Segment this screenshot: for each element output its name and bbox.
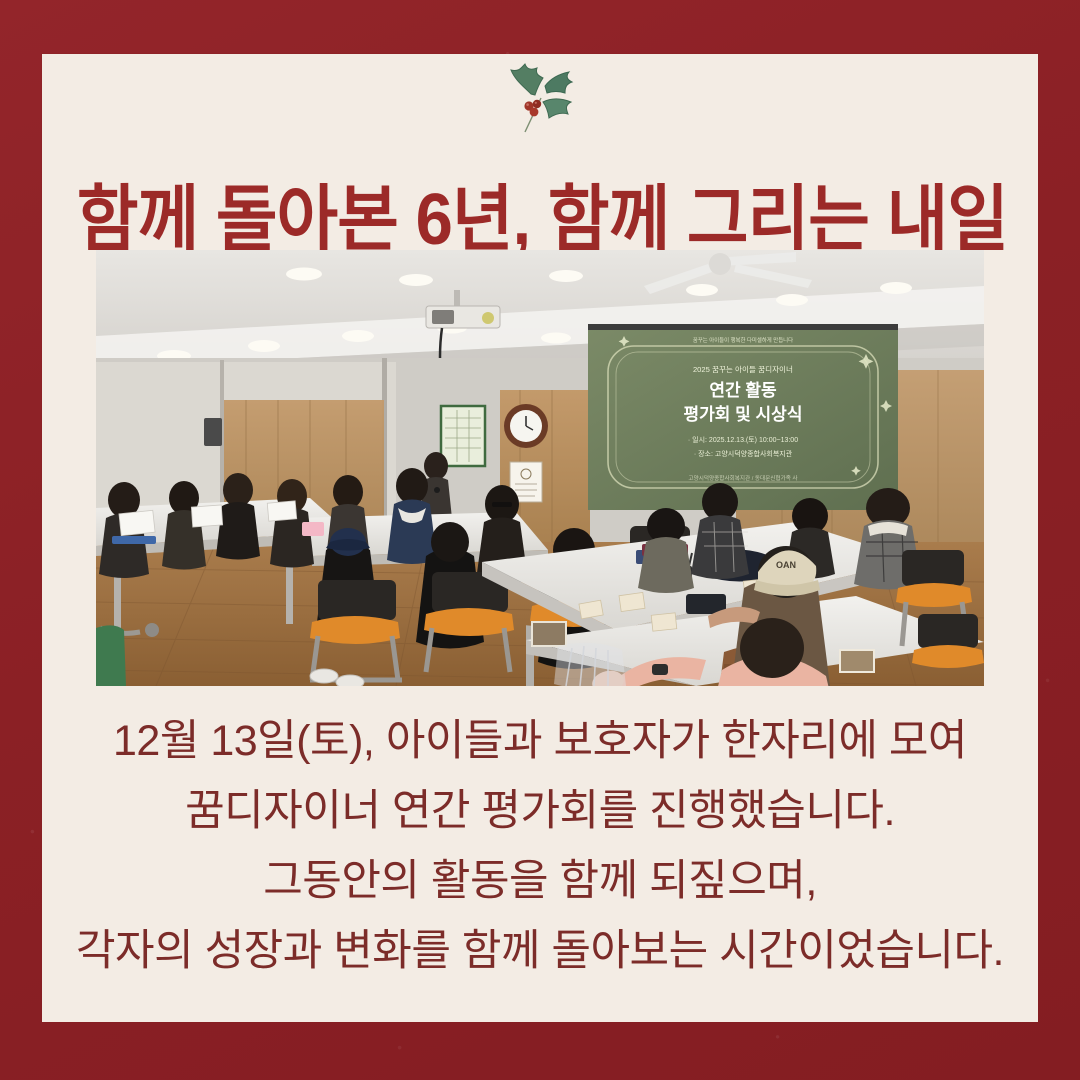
- event-photo: 꿈꾸는 아이들이 행복한 다미셀하게 만듭니다 2025 꿈꾸는 아이들 꿈디자…: [96, 250, 984, 686]
- svg-text:고양시덕양종합사회복지관 / 동대문신협가족 사: 고양시덕양종합사회복지관 / 동대문신협가족 사: [688, 474, 797, 482]
- projection-screen: 꿈꾸는 아이들이 행복한 다미셀하게 만듭니다 2025 꿈꾸는 아이들 꿈디자…: [588, 324, 898, 510]
- svg-text:연간 활동: 연간 활동: [709, 380, 777, 400]
- svg-text:· 장소: 고양시덕양종합사회복지관: · 장소: 고양시덕양종합사회복지관: [694, 449, 793, 458]
- svg-text:· 일시: 2025.12.13.(토) 10:00~13:: · 일시: 2025.12.13.(토) 10:00~13:00: [688, 435, 798, 444]
- wall-clock: [504, 404, 548, 448]
- svg-text:평가회 및 시상식: 평가회 및 시상식: [684, 405, 803, 424]
- body-line-1: 12월 13일(토), 아이들과 보호자가 한자리에 모여: [42, 706, 1038, 776]
- svg-text:OAN: OAN: [776, 560, 796, 570]
- poster-card: 함께 돌아본 6년, 함께 그리는 내일: [0, 0, 1080, 1080]
- svg-text:2025 꿈꾸는 아이들 꿈디자이너: 2025 꿈꾸는 아이들 꿈디자이너: [693, 364, 793, 374]
- page-title: 함께 돌아본 6년, 함께 그리는 내일: [77, 184, 1003, 256]
- body-line-3: 그동안의 활동을 함께 되짚으며,: [42, 846, 1038, 916]
- holly-sprig-icon: [485, 58, 595, 136]
- body-line-2: 꿈디자이너 연간 평가회를 진행했습니다.: [42, 776, 1038, 846]
- svg-text:꿈꾸는 아이들이 행복한 다미셀하게 만듭니다: 꿈꾸는 아이들이 행복한 다미셀하게 만듭니다: [693, 336, 793, 344]
- body-line-4: 각자의 성장과 변화를 함께 돌아보는 시간이었습니다.: [42, 916, 1038, 986]
- content-panel: 함께 돌아본 6년, 함께 그리는 내일: [42, 54, 1038, 1022]
- body-copy: 12월 13일(토), 아이들과 보호자가 한자리에 모여 꿈디자이너 연간 평…: [42, 706, 1038, 986]
